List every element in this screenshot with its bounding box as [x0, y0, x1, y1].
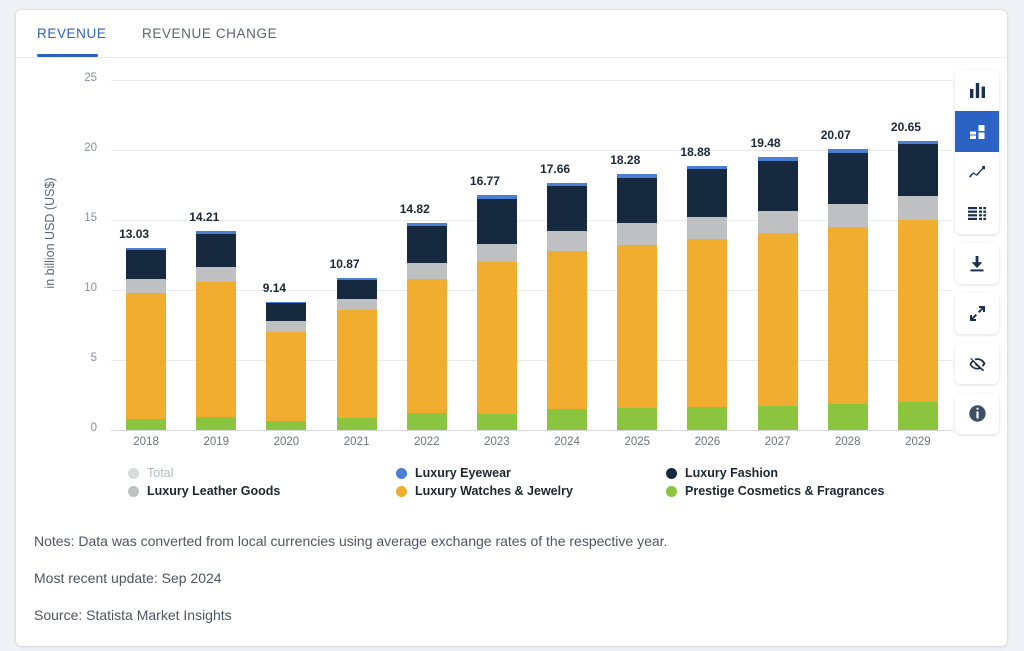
bar-segment[interactable] [758, 211, 798, 233]
bar-value-label: 20.65 [872, 120, 940, 134]
bar-segment[interactable] [337, 299, 377, 310]
bar-segment[interactable] [196, 282, 236, 417]
bar-segment[interactable] [828, 149, 868, 153]
bar-segment[interactable] [266, 332, 306, 421]
y-axis-tick: 10 [63, 282, 97, 294]
tab-bar: REVENUE REVENUE CHANGE [16, 10, 1007, 58]
stacked-bar-chart-icon[interactable] [955, 111, 999, 152]
legend-color-dot [396, 486, 407, 497]
bar-value-label: 14.21 [170, 210, 238, 224]
bar-segment[interactable] [407, 279, 447, 413]
bar-value-label: 13.03 [100, 227, 168, 241]
bar-column[interactable]: 20.65 [886, 58, 950, 430]
bar-segment[interactable] [828, 227, 868, 404]
bar-segment[interactable] [126, 279, 166, 293]
bar-segment[interactable] [407, 223, 447, 226]
legend-label: Luxury Eyewear [415, 466, 511, 480]
bar-segment[interactable] [196, 234, 236, 267]
bar-segment[interactable] [547, 409, 587, 430]
bar-segment[interactable] [337, 278, 377, 280]
y-axis-tick: 25 [63, 72, 97, 84]
tab-revenue-change[interactable]: REVENUE CHANGE [142, 26, 277, 41]
x-axis-tick: 2028 [816, 436, 880, 448]
x-axis-tick: 2019 [184, 436, 248, 448]
x-axis-tick: 2027 [746, 436, 810, 448]
bar-value-label: 16.77 [451, 174, 519, 188]
legend-color-dot [396, 468, 407, 479]
bar-segment[interactable] [898, 141, 938, 144]
toolbar-group [955, 343, 999, 384]
bar-segment[interactable] [547, 183, 587, 186]
bar-segment[interactable] [547, 231, 587, 251]
info-icon[interactable] [955, 393, 999, 434]
legend-item[interactable]: Luxury Eyewear [396, 466, 511, 480]
x-axis-tick: 2029 [886, 436, 950, 448]
bar-segment[interactable] [266, 303, 306, 320]
toolbar-group [955, 393, 999, 434]
y-axis-tick: 0 [63, 422, 97, 434]
bar-segment[interactable] [617, 408, 657, 430]
bar-segment[interactable] [126, 293, 166, 419]
chart-toolbar [955, 70, 999, 443]
tab-revenue[interactable]: REVENUE [37, 26, 106, 41]
gridline [111, 430, 953, 431]
bar-segment[interactable] [477, 414, 517, 430]
bar-segment[interactable] [758, 233, 798, 406]
bar-segment[interactable] [617, 245, 657, 409]
bar-segment[interactable] [126, 419, 166, 430]
footer-update: Most recent update: Sep 2024 [34, 570, 222, 586]
bar-column[interactable]: 9.14 [254, 58, 318, 430]
bar-column[interactable]: 14.21 [184, 58, 248, 430]
bar-value-label: 9.14 [240, 281, 308, 295]
bar-segment[interactable] [617, 223, 657, 244]
bar-segment[interactable] [547, 186, 587, 231]
x-axis-tick: 2026 [675, 436, 739, 448]
legend-label: Prestige Cosmetics & Fragrances [685, 484, 884, 498]
y-axis-tick: 20 [63, 142, 97, 154]
x-axis-tick: 2023 [465, 436, 529, 448]
legend-item[interactable]: Luxury Watches & Jewelry [396, 484, 573, 498]
x-axis-tick: 2018 [114, 436, 178, 448]
chart-card: REVENUE REVENUE CHANGE in billion USD (U… [16, 10, 1007, 646]
bar-segment[interactable] [547, 251, 587, 409]
active-tab-indicator [37, 54, 98, 57]
bar-column[interactable]: 19.48 [746, 58, 810, 430]
bar-segment[interactable] [196, 417, 236, 430]
legend-label: Total [147, 466, 173, 480]
y-axis-tick: 15 [63, 212, 97, 224]
bar-segment[interactable] [266, 321, 306, 333]
x-axis-tick: 2021 [325, 436, 389, 448]
bar-segment[interactable] [687, 166, 727, 170]
bar-segment[interactable] [898, 196, 938, 220]
download-icon[interactable] [955, 243, 999, 284]
bar-segment[interactable] [477, 262, 517, 414]
legend-label: Luxury Watches & Jewelry [415, 484, 573, 498]
bar-segment[interactable] [687, 217, 727, 239]
toolbar-group [955, 293, 999, 334]
bar-segment[interactable] [898, 402, 938, 430]
bar-segment[interactable] [266, 302, 306, 304]
legend-item[interactable]: Luxury Fashion [666, 466, 778, 480]
bar-segment[interactable] [828, 204, 868, 227]
bar-segment[interactable] [828, 404, 868, 430]
legend-label: Luxury Leather Goods [147, 484, 280, 498]
legend-color-dot [666, 468, 677, 479]
bar-segment[interactable] [758, 161, 798, 211]
x-axis-tick: 2024 [535, 436, 599, 448]
bar-column[interactable]: 10.87 [325, 58, 389, 430]
bar-value-label: 18.28 [591, 153, 659, 167]
bar-segment[interactable] [407, 263, 447, 279]
bar-chart-icon[interactable] [955, 70, 999, 111]
y-axis-label: in billion USD (US$) [43, 153, 57, 313]
page-root: REVENUE REVENUE CHANGE in billion USD (U… [0, 0, 1024, 651]
legend-color-dot [128, 468, 139, 479]
bar-segment[interactable] [196, 231, 236, 234]
bar-segment[interactable] [617, 178, 657, 224]
hide-eye-icon[interactable] [955, 343, 999, 384]
legend-label: Luxury Fashion [685, 466, 778, 480]
bar-segment[interactable] [337, 310, 377, 418]
bar-column[interactable]: 18.28 [605, 58, 669, 430]
bar-value-label: 19.48 [732, 136, 800, 150]
toolbar-group [955, 243, 999, 284]
bar-segment[interactable] [266, 421, 306, 430]
chart-legend: TotalLuxury EyewearLuxury FashionLuxury … [16, 458, 1007, 506]
chart-area: in billion USD (US$) 0510152025 13.0314.… [16, 58, 1007, 458]
legend-color-dot [128, 486, 139, 497]
bar-segment[interactable] [758, 157, 798, 161]
bar-segment[interactable] [898, 220, 938, 402]
bar-value-label: 17.66 [521, 162, 589, 176]
bar-segment[interactable] [126, 250, 166, 278]
legend-item[interactable]: Prestige Cosmetics & Fragrances [666, 484, 884, 498]
legend-item[interactable]: Total [128, 466, 173, 480]
bar-column[interactable]: 17.66 [535, 58, 599, 430]
line-chart-icon[interactable] [955, 152, 999, 193]
x-axis-tick: 2020 [254, 436, 318, 448]
bar-segment[interactable] [687, 239, 727, 408]
bar-value-label: 20.07 [802, 128, 870, 142]
bar-column[interactable]: 20.07 [816, 58, 880, 430]
bar-segment[interactable] [477, 195, 517, 199]
plot-area: 13.0314.219.1410.8714.8216.7717.6618.281… [111, 58, 953, 430]
y-axis-tick: 5 [63, 352, 97, 364]
x-axis-tick: 2025 [605, 436, 669, 448]
bar-segment[interactable] [477, 199, 517, 244]
bar-segment[interactable] [477, 244, 517, 262]
bar-column[interactable]: 14.82 [395, 58, 459, 430]
bar-column[interactable]: 18.88 [675, 58, 739, 430]
bar-segment[interactable] [407, 226, 447, 263]
bar-column[interactable]: 13.03 [114, 58, 178, 430]
footer-source: Source: Statista Market Insights [34, 607, 232, 623]
legend-color-dot [666, 486, 677, 497]
bar-segment[interactable] [196, 267, 236, 283]
legend-item[interactable]: Luxury Leather Goods [128, 484, 280, 498]
table-icon[interactable] [955, 193, 999, 234]
x-axis-tick: 2022 [395, 436, 459, 448]
bar-value-label: 18.88 [661, 145, 729, 159]
bar-value-label: 10.87 [311, 257, 379, 271]
toolbar-group [955, 70, 999, 234]
bar-segment[interactable] [687, 169, 727, 216]
bar-segment[interactable] [407, 413, 447, 430]
footer-notes: Notes: Data was converted from local cur… [34, 533, 667, 549]
bar-segment[interactable] [687, 407, 727, 430]
bar-segment[interactable] [617, 174, 657, 178]
bar-segment[interactable] [828, 153, 868, 204]
bar-segment[interactable] [898, 144, 938, 196]
bar-segment[interactable] [337, 280, 377, 300]
expand-icon[interactable] [955, 293, 999, 334]
bar-segment[interactable] [126, 248, 166, 251]
bar-segment[interactable] [337, 418, 377, 430]
bar-segment[interactable] [758, 406, 798, 430]
bar-value-label: 14.82 [381, 202, 449, 216]
bar-column[interactable]: 16.77 [465, 58, 529, 430]
